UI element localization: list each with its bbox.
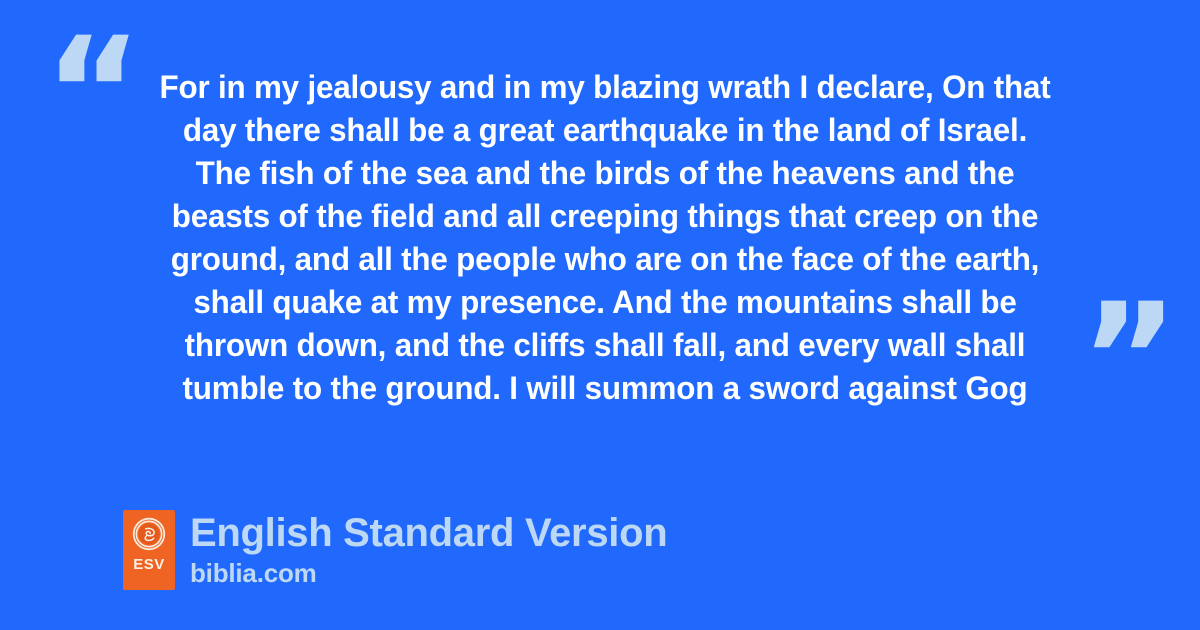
attribution-footer: ESV English Standard Version biblia.com	[123, 510, 667, 590]
bible-version-name: English Standard Version	[190, 510, 667, 556]
verse-line: ground, and all the people who are on th…	[118, 238, 1093, 281]
verse-text: For in my jealousy and in my blazing wra…	[118, 66, 1093, 410]
site-name: biblia.com	[190, 558, 667, 588]
esv-logo-badge: ESV	[123, 510, 175, 590]
verse-line: For in my jealousy and in my blazing wra…	[118, 66, 1093, 109]
attribution-text-group: English Standard Version biblia.com	[190, 510, 667, 588]
verse-line: The fish of the sea and the birds of the…	[118, 152, 1093, 195]
esv-medallion-icon	[132, 517, 166, 551]
verse-share-card: “ ” For in my jealousy and in my blazing…	[0, 0, 1200, 630]
closing-quote-icon: ”	[1080, 284, 1179, 434]
verse-line: tumble to the ground. I will summon a sw…	[118, 367, 1093, 410]
verse-line: beasts of the field and all creeping thi…	[118, 195, 1093, 238]
esv-logo-abbreviation: ESV	[133, 557, 165, 572]
verse-line: shall quake at my presence. And the moun…	[118, 281, 1093, 324]
verse-line: thrown down, and the cliffs shall fall, …	[118, 324, 1093, 367]
verse-line: day there shall be a great earthquake in…	[118, 109, 1093, 152]
